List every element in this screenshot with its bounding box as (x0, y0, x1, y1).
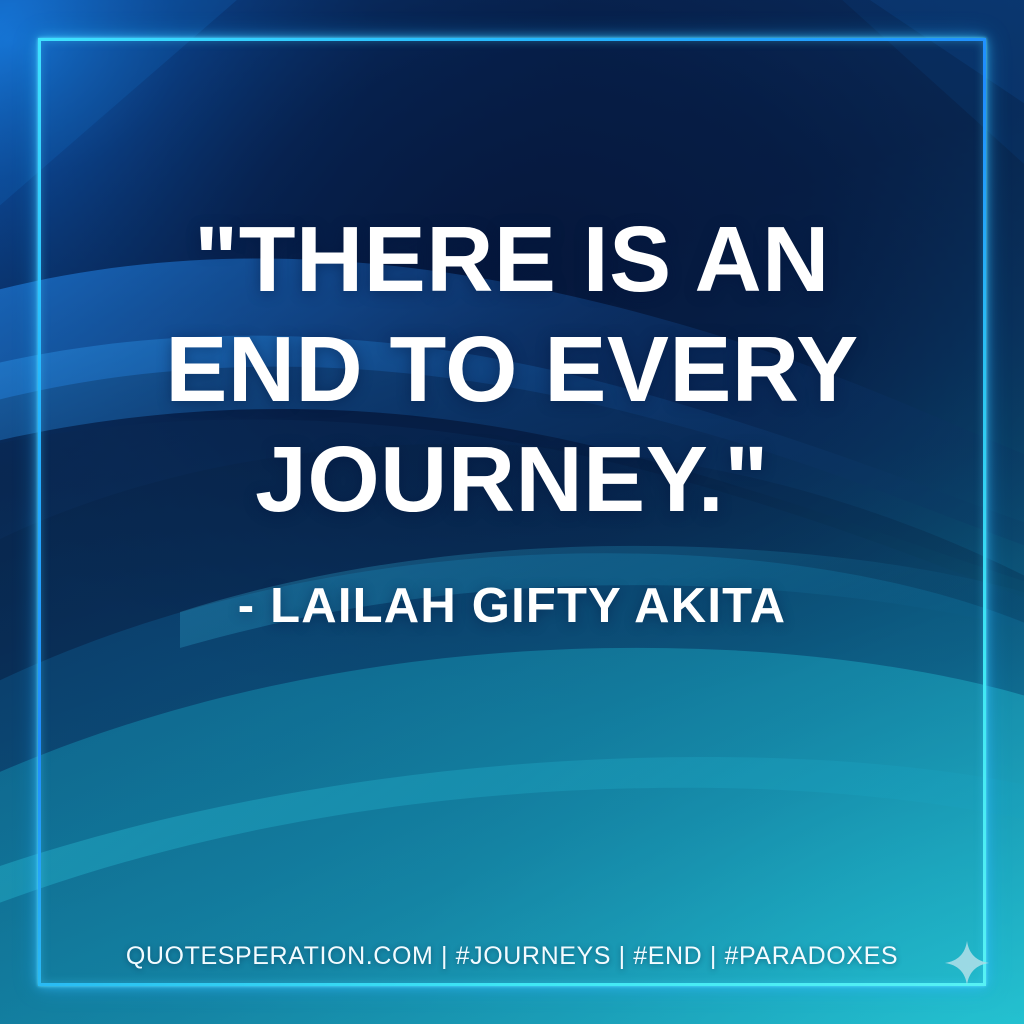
quote-author: - LAILAH GIFTY AKITA (0, 578, 1024, 634)
quote-text: "THERE IS AN END TO EVERY JOURNEY." (0, 204, 1024, 534)
quote-card: "THERE IS AN END TO EVERY JOURNEY." - LA… (0, 0, 1024, 1024)
footer-attribution: QUOTESPERATION.COM | #JOURNEYS | #END | … (0, 942, 1024, 971)
content-area: "THERE IS AN END TO EVERY JOURNEY." - LA… (0, 0, 1024, 1024)
